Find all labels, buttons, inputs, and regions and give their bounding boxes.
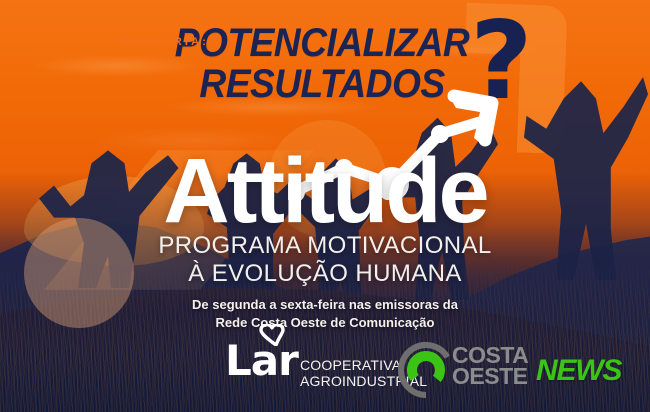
news-wordmark: NEWS: [536, 356, 621, 386]
promo-poster: POTENCIALIZAR RESULTADOS ? Attitude PROG…: [0, 0, 650, 412]
costa-oeste-line-2: OESTE: [452, 366, 528, 387]
partnership-label: PARCERIA:: [120, 36, 209, 48]
broadcast-schedule: De segunda a sexta-feira nas emissoras d…: [0, 296, 650, 331]
schedule-line-1: De segunda a sexta-feira nas emissoras d…: [0, 296, 650, 314]
subtitle-line-2: À EVOLUÇÃO HUMANA: [0, 260, 650, 288]
subtitle-line-1: PROGRAMA MOTIVACIONAL: [0, 232, 650, 260]
schedule-line-2: Rede Costa Oeste de Comunicação: [0, 314, 650, 332]
lar-wordmark: Lar: [225, 340, 298, 382]
lar-logo: Lar: [225, 340, 298, 382]
heart-icon: [255, 324, 289, 346]
costa-oeste-wordmark: COSTA OESTE: [452, 345, 528, 387]
costa-oeste-c-icon: [398, 341, 454, 399]
program-subtitle: PROGRAMA MOTIVACIONAL À EVOLUÇÃO HUMANA: [0, 232, 650, 287]
program-title: Attitude: [0, 150, 650, 233]
